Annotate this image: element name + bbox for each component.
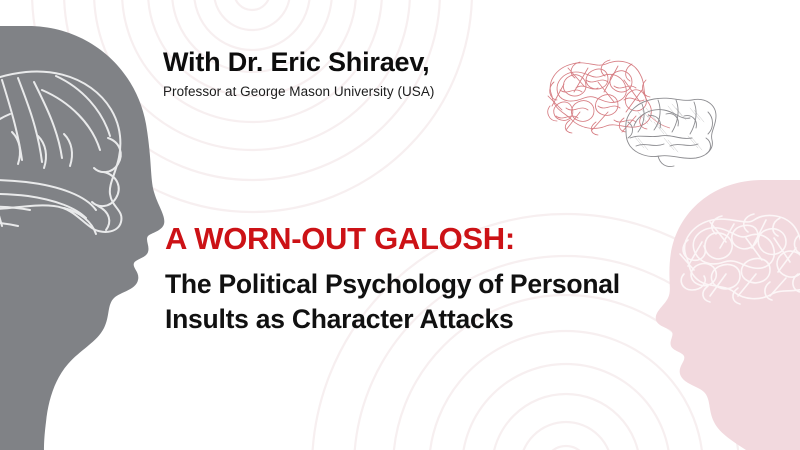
- slide-subtitle-line1: The Political Psychology of Personal: [165, 267, 685, 302]
- presentation-slide: With Dr. Eric Shiraev, Professor at Geor…: [0, 0, 800, 450]
- slide-subtitle-line2: Insults as Character Attacks: [165, 302, 685, 337]
- speaker-affiliation: Professor at George Mason University (US…: [163, 84, 583, 99]
- speaker-name: With Dr. Eric Shiraev,: [163, 48, 583, 78]
- slide-headline: A WORN-OUT GALOSH:: [165, 222, 685, 257]
- speaker-block: With Dr. Eric Shiraev, Professor at Geor…: [163, 48, 583, 99]
- slide-subtitle: The Political Psychology of Personal Ins…: [165, 267, 685, 337]
- gray-sketch-brain-illustration: [626, 98, 716, 166]
- title-block: A WORN-OUT GALOSH: The Political Psychol…: [165, 222, 685, 337]
- head-shape: [0, 26, 164, 450]
